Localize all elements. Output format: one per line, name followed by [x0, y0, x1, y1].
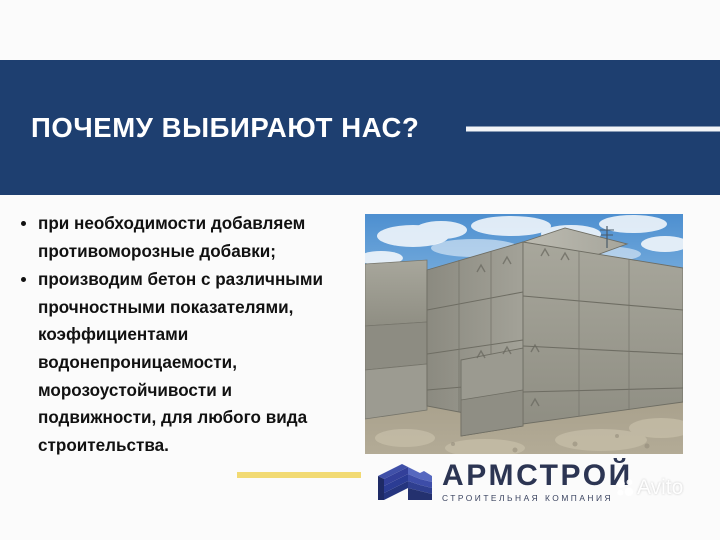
- page-title: ПОЧЕМУ ВЫБИРАЮТ НАС?: [31, 112, 419, 144]
- header-band: ПОЧЕМУ ВЫБИРАЮТ НАС?: [0, 60, 720, 195]
- accent-rule-decoration: [237, 472, 361, 478]
- list-item: при необходимости добавляем противомороз…: [14, 210, 354, 265]
- avito-logo-icon: [616, 478, 635, 497]
- company-logo: АРМСТРОЙ СТРОИТЕЛЬНАЯ КОМПАНИЯ: [376, 459, 656, 505]
- building-icon: [376, 462, 434, 502]
- concrete-blocks-illustration: [365, 214, 683, 454]
- benefits-list: при необходимости добавляем противомороз…: [14, 210, 354, 460]
- logo-tagline: СТРОИТЕЛЬНАЯ КОМПАНИЯ: [442, 492, 633, 504]
- logo-company-name: АРМСТРОЙ: [442, 461, 633, 491]
- logo-text-block: АРМСТРОЙ СТРОИТЕЛЬНАЯ КОМПАНИЯ: [442, 461, 633, 504]
- concrete-blocks-photo: [365, 214, 683, 454]
- header-rule-decoration: [466, 126, 720, 131]
- avito-watermark-text: Avito: [637, 477, 683, 498]
- list-item: производим бетон с различными прочностны…: [14, 266, 354, 459]
- slide-root: ПОЧЕМУ ВЫБИРАЮТ НАС? при необходимости д…: [0, 0, 720, 540]
- avito-watermark: Avito: [616, 477, 683, 498]
